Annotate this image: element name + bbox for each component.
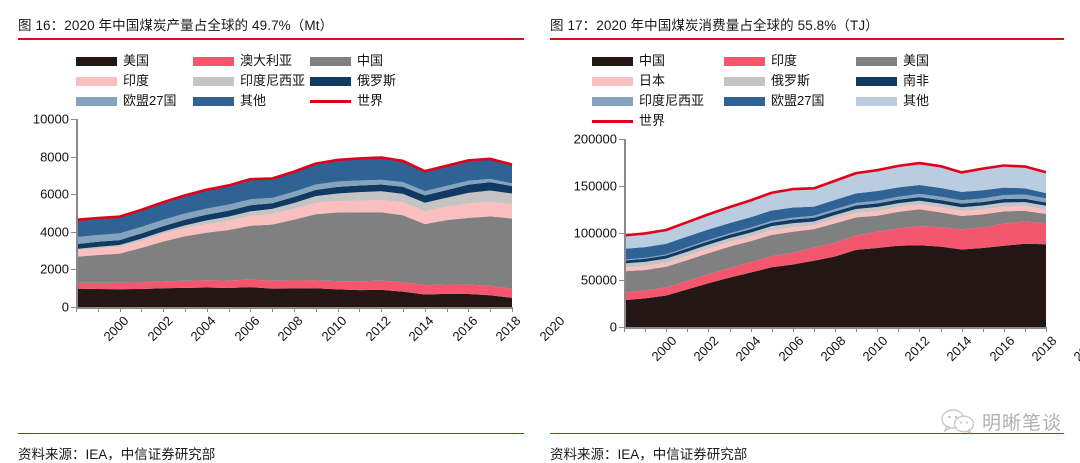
wechat-icon	[941, 409, 975, 435]
x-tick-label: 2002	[144, 313, 175, 344]
legend-item[interactable]: 印度	[76, 71, 193, 91]
legend-label: 中国	[639, 54, 665, 68]
legend-swatch-7	[592, 97, 633, 106]
y-tick-label: 4000	[40, 224, 69, 239]
legend-item[interactable]: 俄罗斯	[310, 71, 427, 91]
figure-17-footer: 资料来源：IEA，中信证券研究部	[540, 433, 1080, 463]
legend-label: 世界	[357, 94, 383, 108]
x-tick-label: 2010	[859, 333, 890, 364]
figure-pair-page: 图 16：2020 年中国煤炭产量占全球的 49.7%（Mt） 美国澳大利亚中国…	[0, 0, 1080, 463]
figure-17-panel: 图 17：2020 年中国煤炭消费量占全球的 55.8%（TJ） 中国印度美国日…	[540, 0, 1080, 463]
legend-label: 澳大利亚	[240, 54, 292, 68]
figure-16-footer: 资料来源：IEA，中信证券研究部	[0, 433, 540, 463]
legend-swatch-1	[76, 57, 117, 66]
legend-swatch-9	[310, 100, 351, 103]
legend-item[interactable]: 澳大利亚	[193, 51, 310, 71]
legend-label: 印度尼西亚	[639, 94, 704, 108]
x-tick-label: 2008	[817, 333, 848, 364]
legend-label: 俄罗斯	[771, 74, 810, 88]
y-tick-label: 0	[610, 320, 617, 335]
x-tick-label: 2012	[902, 333, 933, 364]
legend-label: 其他	[903, 94, 929, 108]
legend-item[interactable]: 欧盟27国	[724, 91, 856, 111]
source-note: 资料来源：IEA，中信证券研究部	[540, 434, 1080, 463]
watermark: 明晰笔谈	[941, 408, 1062, 435]
legend-swatch-5	[724, 77, 765, 86]
legend-item[interactable]: 世界	[310, 91, 427, 111]
legend-label: 印度	[771, 54, 797, 68]
legend-label: 美国	[123, 54, 149, 68]
figure-16-y-axis: 0200040006000800010000	[69, 119, 76, 307]
legend-item[interactable]: 中国	[310, 51, 427, 71]
figure-17-area-chart	[624, 139, 1046, 327]
legend-item[interactable]: 俄罗斯	[724, 71, 856, 91]
y-tick-label: 6000	[40, 187, 69, 202]
page-title: 图 16：2020 年中国煤炭产量占全球的 49.7%（Mt）	[18, 17, 524, 34]
x-tick-label: 2020	[1070, 333, 1080, 364]
legend-label: 欧盟27国	[123, 94, 176, 108]
legend-swatch-6	[310, 77, 351, 86]
y-tick-label: 0	[62, 300, 69, 315]
legend-label: 欧盟27国	[771, 94, 824, 108]
x-tick-label: 2016	[986, 333, 1017, 364]
figure-16-legend: 美国澳大利亚中国印度印度尼西亚俄罗斯欧盟27国其他世界	[76, 51, 428, 111]
y-tick-label: 150000	[574, 179, 617, 194]
y-axis-line	[624, 139, 626, 327]
legend-label: 南非	[903, 74, 929, 88]
legend-swatch-2	[724, 57, 765, 66]
page-title: 图 17：2020 年中国煤炭消费量占全球的 55.8%（TJ）	[550, 17, 1064, 34]
legend-item[interactable]: 印度尼西亚	[592, 91, 724, 111]
x-tick-label: 2004	[733, 333, 764, 364]
legend-label: 印度尼西亚	[240, 74, 305, 88]
y-tick-label: 100000	[574, 226, 617, 241]
legend-item[interactable]: 中国	[592, 51, 724, 71]
x-tick-label: 2000	[648, 333, 679, 364]
x-tick-mark	[1046, 327, 1047, 332]
x-tick-label: 2000	[100, 313, 131, 344]
legend-swatch-4	[76, 77, 117, 86]
x-tick-label: 2012	[362, 313, 393, 344]
legend-swatch-7	[76, 97, 117, 106]
figure-17-x-tick-labels: 2000200220042006200820102012201420162018…	[624, 329, 1046, 391]
legend-item[interactable]: 世界	[592, 111, 724, 131]
legend-swatch-8	[724, 97, 765, 106]
y-tick-label: 2000	[40, 262, 69, 277]
legend-item[interactable]: 美国	[856, 51, 988, 71]
figure-16-caption-block: 图 16：2020 年中国煤炭产量占全球的 49.7%（Mt）	[18, 0, 524, 40]
legend-label: 中国	[357, 54, 383, 68]
legend-swatch-6	[856, 77, 897, 86]
figure-16-area-chart	[76, 119, 512, 307]
legend-swatch-1	[592, 57, 633, 66]
caption-underline	[18, 38, 524, 40]
source-note: 资料来源：IEA，中信证券研究部	[0, 434, 540, 463]
x-tick-label: 2004	[188, 313, 219, 344]
figure-17-caption-block: 图 17：2020 年中国煤炭消费量占全球的 55.8%（TJ）	[550, 0, 1064, 40]
y-axis-line	[76, 119, 78, 307]
legend-swatch-5	[193, 77, 234, 86]
legend-label: 俄罗斯	[357, 74, 396, 88]
watermark-text: 明晰笔谈	[982, 408, 1062, 435]
caption-underline	[550, 38, 1064, 40]
legend-item[interactable]: 美国	[76, 51, 193, 71]
y-tick-label: 200000	[574, 132, 617, 147]
legend-item[interactable]: 印度尼西亚	[193, 71, 310, 91]
legend-swatch-3	[856, 57, 897, 66]
legend-swatch-2	[193, 57, 234, 66]
legend-label: 日本	[639, 74, 665, 88]
legend-label: 世界	[639, 114, 665, 128]
x-tick-label: 2014	[944, 333, 975, 364]
y-tick-label: 8000	[40, 149, 69, 164]
legend-swatch-10	[592, 120, 633, 123]
legend-label: 印度	[123, 74, 149, 88]
x-tick-label: 2010	[318, 313, 349, 344]
y-tick-label: 10000	[33, 112, 69, 127]
figure-17-legend: 中国印度美国日本俄罗斯南非印度尼西亚欧盟27国其他世界	[592, 51, 990, 131]
figure-16-panel: 图 16：2020 年中国煤炭产量占全球的 49.7%（Mt） 美国澳大利亚中国…	[0, 0, 540, 463]
x-tick-mark	[512, 307, 513, 312]
legend-item[interactable]: 南非	[856, 71, 988, 91]
y-tick-label: 50000	[581, 273, 617, 288]
x-tick-label: 2014	[406, 313, 437, 344]
legend-swatch-4	[592, 77, 633, 86]
legend-label: 其他	[240, 94, 266, 108]
x-tick-label: 2016	[449, 313, 480, 344]
x-tick-label: 2002	[691, 333, 722, 364]
x-tick-label: 2006	[231, 313, 262, 344]
x-tick-label: 2018	[493, 313, 524, 344]
x-tick-label: 2006	[775, 333, 806, 364]
figure-16-x-tick-labels: 2000200220042006200820102012201420162018…	[76, 309, 512, 371]
x-tick-label: 2018	[1028, 333, 1059, 364]
legend-swatch-8	[193, 97, 234, 106]
figure-16-plot: 0200040006000800010000	[76, 119, 512, 307]
legend-label: 美国	[903, 54, 929, 68]
x-tick-label: 2008	[275, 313, 306, 344]
legend-item[interactable]: 其他	[856, 91, 988, 111]
legend-swatch-3	[310, 57, 351, 66]
legend-item[interactable]: 其他	[193, 91, 310, 111]
legend-swatch-9	[856, 97, 897, 106]
legend-item[interactable]: 日本	[592, 71, 724, 91]
figure-17-y-axis: 050000100000150000200000	[617, 139, 624, 327]
figure-17-plot: 050000100000150000200000	[624, 139, 1046, 327]
legend-item[interactable]: 印度	[724, 51, 856, 71]
legend-item[interactable]: 欧盟27国	[76, 91, 193, 111]
